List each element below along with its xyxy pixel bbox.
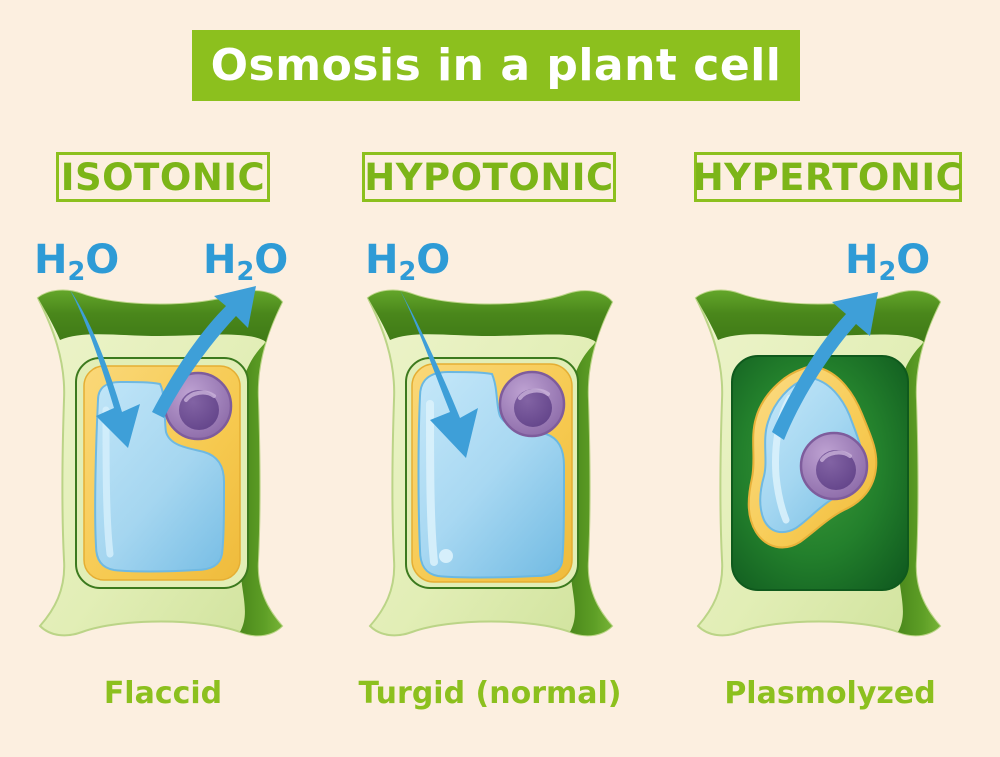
- plant-cell-hypertonic: [678, 270, 978, 660]
- caption-flaccid: Flaccid: [43, 679, 283, 709]
- header-hypotonic-label: HYPOTONIC: [364, 159, 613, 196]
- header-isotonic-label: ISOTONIC: [61, 159, 265, 196]
- vacuole-highlight: [430, 404, 434, 562]
- title-banner: Osmosis in a plant cell: [192, 30, 800, 101]
- plant-cell-isotonic: [20, 270, 320, 660]
- vacuole-highlight: [106, 410, 110, 554]
- cell-wall-top-band: [696, 291, 940, 342]
- vacuole-bubble: [439, 549, 453, 563]
- plant-cell-hypotonic: [350, 270, 650, 660]
- diagram-canvas: Osmosis in a plant cell ISOTONIC HYPOTON…: [0, 0, 1000, 757]
- header-hypotonic: HYPOTONIC: [362, 152, 616, 202]
- header-isotonic: ISOTONIC: [56, 152, 270, 202]
- page-title: Osmosis in a plant cell: [211, 44, 782, 88]
- header-hypertonic-label: HYPERTONIC: [693, 159, 964, 196]
- caption-turgid: Turgid (normal): [330, 679, 650, 709]
- header-hypertonic: HYPERTONIC: [694, 152, 962, 202]
- caption-plasmolyzed: Plasmolyzed: [700, 679, 960, 709]
- cell-wall-top-band: [38, 291, 282, 342]
- cell-wall-top-band: [368, 291, 612, 342]
